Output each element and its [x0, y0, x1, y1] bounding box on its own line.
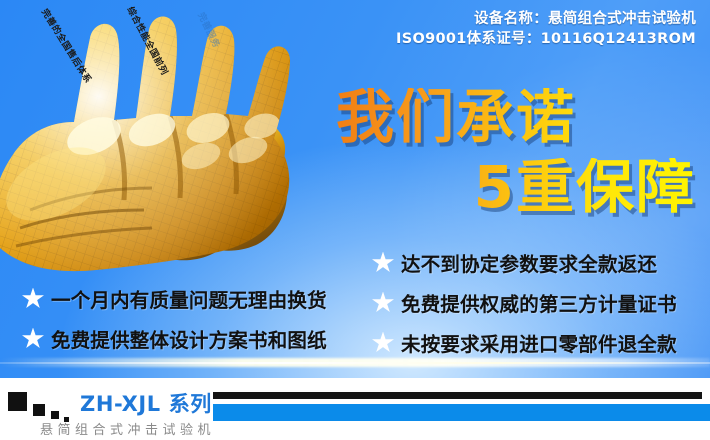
decor-square-2 — [33, 404, 45, 416]
bullet-label: 一个月内有质量问题无理由换货 — [51, 284, 327, 313]
list-item: 免费提供权威的第三方计量证书 — [372, 288, 677, 317]
decor-square-3 — [51, 411, 59, 419]
footer-subtitle: 悬简组合式冲击试验机 — [40, 419, 215, 438]
bullet-list-right: 达不到协定参数要求全款返还 免费提供权威的第三方计量证书 未按要求采用进口零部件… — [372, 248, 677, 368]
promo-poster: 完善的全国售后体系 综合性能全国前列 完善服务 设备名称：悬简组合式冲击试验机 … — [0, 0, 710, 440]
product-header: 设备名称：悬简组合式冲击试验机 ISO9001体系证号：10116Q12413R… — [396, 9, 696, 49]
list-item: 免费提供整体设计方案书和图纸 — [22, 324, 327, 353]
equipment-name-line: 设备名称：悬简组合式冲击试验机 — [396, 9, 696, 29]
footer-band: ZH-XJL 系列 悬简组合式冲击试验机 — [0, 378, 710, 440]
star-icon — [22, 288, 44, 310]
accent-bar-blue — [213, 404, 710, 421]
bullet-label: 未按要求采用进口零部件退全款 — [401, 328, 677, 357]
iso-certificate-line: ISO9001体系证号：10116Q12413ROM — [396, 29, 696, 49]
bullet-label: 免费提供整体设计方案书和图纸 — [51, 324, 327, 353]
list-item: 未按要求采用进口零部件退全款 — [372, 328, 677, 357]
bullet-label: 免费提供权威的第三方计量证书 — [401, 288, 677, 317]
bullet-label: 达不到协定参数要求全款返还 — [401, 248, 657, 277]
list-item: 一个月内有质量问题无理由换货 — [22, 284, 327, 313]
star-icon — [372, 292, 394, 314]
list-item: 达不到协定参数要求全款返还 — [372, 248, 677, 277]
bullet-list-left: 一个月内有质量问题无理由换货 免费提供整体设计方案书和图纸 — [22, 284, 327, 364]
headline-block: 我们承诺 5重保障 — [332, 88, 698, 216]
decor-square-1 — [8, 392, 27, 411]
series-name: ZH-XJL 系列 — [80, 388, 212, 418]
star-icon — [372, 332, 394, 354]
headline-line-1: 我们承诺 — [332, 88, 698, 146]
accent-bar-black — [213, 392, 702, 399]
headline-line-2: 5重保障 — [332, 158, 698, 216]
star-icon — [372, 252, 394, 274]
star-icon — [22, 328, 44, 350]
light-streak-core — [0, 362, 710, 364]
